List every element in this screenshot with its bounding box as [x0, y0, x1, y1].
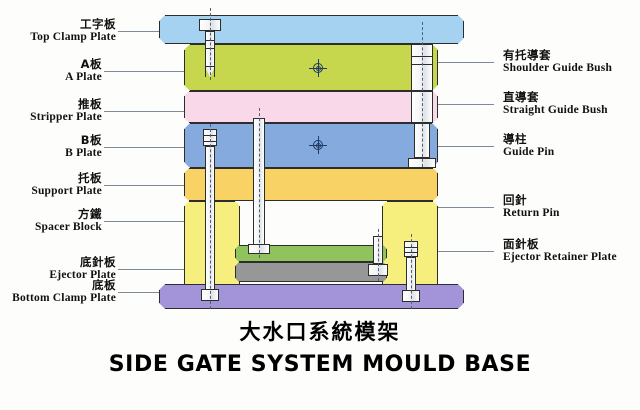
label-b-plate-en: B Plate — [65, 147, 102, 160]
label-return-pin-cn: 回針 — [503, 194, 560, 207]
label-support-plate: 托板 Support Plate — [31, 172, 102, 198]
leader-b-plate — [104, 147, 184, 148]
label-top-clamp-plate-en: Top Clamp Plate — [30, 31, 116, 44]
label-return-pin: 回針 Return Pin — [503, 194, 560, 220]
label-bottom-clamp-plate-cn: 底板 — [12, 279, 116, 292]
return-pin-centerline-left — [210, 124, 211, 309]
label-ejector-plate-cn: 底針板 — [49, 256, 116, 269]
label-ejector-retainer-plate: 面針板 Ejector Retainer Plate — [503, 238, 617, 264]
leader-support-plate — [104, 185, 184, 186]
label-stripper-plate-en: Stripper Plate — [30, 111, 102, 124]
label-return-pin-en: Return Pin — [503, 207, 560, 220]
label-support-plate-cn: 托板 — [31, 172, 102, 185]
title-english: SIDE GATE SYSTEM MOULD BASE — [0, 352, 640, 377]
label-shoulder-guide-bush: 有托導套 Shoulder Guide Bush — [503, 49, 612, 75]
label-a-plate: A板 A Plate — [65, 58, 102, 84]
title-chinese: 大水口系統模架 — [0, 316, 640, 346]
label-top-clamp-plate: 工字板 Top Clamp Plate — [30, 18, 116, 44]
ejector-sleeve-centerline — [259, 108, 260, 258]
mould-base-diagram: 工字板 Top Clamp Plate A板 A Plate 推板 Stripp… — [0, 0, 640, 410]
label-straight-guide-bush: 直導套 Straight Guide Bush — [503, 91, 608, 117]
diagram-title: 大水口系統模架 SIDE GATE SYSTEM MOULD BASE — [0, 316, 640, 377]
center-mark-b-plate — [310, 137, 326, 153]
spacer-screw-centerline — [411, 234, 412, 309]
label-spacer-block-cn: 方鐵 — [35, 208, 102, 221]
label-ejector-retainer-plate-cn: 面針板 — [503, 238, 617, 251]
label-straight-guide-bush-cn: 直導套 — [503, 91, 608, 104]
center-mark-a-plate — [310, 60, 326, 76]
label-b-plate-cn: B板 — [65, 134, 102, 147]
outline-stripper-plate — [184, 91, 438, 123]
leader-stripper-plate — [104, 111, 184, 112]
label-stripper-plate: 推板 Stripper Plate — [30, 98, 102, 124]
cap-screw-centerline — [210, 8, 211, 80]
label-guide-pin-cn: 導柱 — [503, 133, 554, 146]
leader-a-plate — [104, 71, 184, 72]
return-pin-centerline-right — [378, 229, 379, 281]
label-stripper-plate-cn: 推板 — [30, 98, 102, 111]
label-shoulder-guide-bush-en: Shoulder Guide Bush — [503, 62, 612, 75]
label-bottom-clamp-plate-en: Bottom Clamp Plate — [12, 292, 116, 305]
label-guide-pin: 導柱 Guide Pin — [503, 133, 554, 159]
label-bottom-clamp-plate: 底板 Bottom Clamp Plate — [12, 279, 116, 305]
label-support-plate-en: Support Plate — [31, 185, 102, 198]
label-spacer-block: 方鐵 Spacer Block — [35, 208, 102, 234]
label-spacer-block-en: Spacer Block — [35, 221, 102, 234]
label-a-plate-en: A Plate — [65, 71, 102, 84]
guide-pin-centerline — [422, 22, 423, 167]
label-shoulder-guide-bush-cn: 有托導套 — [503, 49, 612, 62]
label-ejector-retainer-plate-en: Ejector Retainer Plate — [503, 251, 617, 264]
label-straight-guide-bush-en: Straight Guide Bush — [503, 104, 608, 117]
leader-spacer-block — [104, 221, 184, 222]
label-top-clamp-plate-cn: 工字板 — [30, 18, 116, 31]
label-b-plate: B板 B Plate — [65, 134, 102, 160]
label-a-plate-cn: A板 — [65, 58, 102, 71]
label-guide-pin-en: Guide Pin — [503, 146, 554, 159]
outline-support-plate — [184, 168, 438, 201]
outline-ejector-plate — [235, 262, 387, 282]
